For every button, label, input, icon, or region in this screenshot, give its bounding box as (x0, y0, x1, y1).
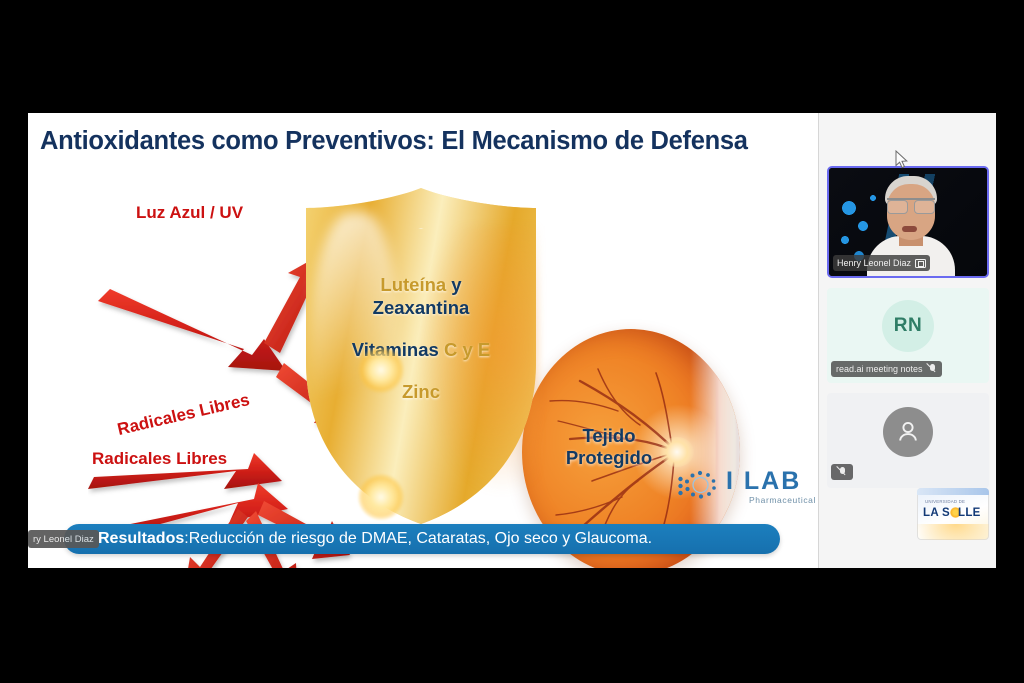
mic-muted-icon (928, 364, 937, 375)
ilab-tagline: Pharmaceutical (749, 495, 816, 505)
eye-label: Tejido Protegido (522, 425, 696, 469)
shared-slide: Antioxidantes como Preventivos: El Mecan… (28, 113, 818, 568)
person-mouth (902, 226, 917, 232)
shield-luteina: Luteína (380, 274, 446, 295)
shield-spacer-2 (296, 362, 546, 381)
impact-spark-upper (358, 347, 404, 393)
shield-y: y (446, 274, 461, 295)
participant-name-label: Henry Leonel Diaz (837, 258, 911, 268)
readai-name-label: read.ai meeting notes (836, 364, 923, 374)
lasalle-glow (917, 524, 989, 540)
ilab-logo: I LAB Pharmaceutical (678, 465, 818, 517)
avatar-person-placeholder (883, 407, 933, 457)
label-free-radicals-2: Radicales Libres (92, 449, 227, 469)
participant-tile-video[interactable]: Henry Leonel Diaz (827, 166, 989, 278)
glasses-icon (887, 198, 935, 211)
shield-c-y-e: C y E (444, 339, 490, 360)
anonymous-mic-chip (831, 464, 853, 480)
mouse-cursor (895, 150, 909, 169)
page-title: Antioxidantes como Preventivos: El Mecan… (40, 127, 810, 156)
presenter-name-overlay: ry Leonel Diaz (28, 530, 99, 548)
shield-line-1: Luteína y (296, 274, 546, 297)
shield-zeaxantina: Zeaxantina (296, 297, 546, 320)
participant-tile-readai[interactable]: RN read.ai meeting notes (827, 288, 989, 383)
shield-line-3: Vitaminas C y E (296, 339, 546, 362)
participant-name-chip: Henry Leonel Diaz (833, 255, 930, 271)
results-text: Reducción de riesgo de DMAE, Cataratas, … (189, 530, 652, 548)
lasalle-wordmark-right: LLE (958, 507, 981, 519)
screen-root: Antioxidantes como Preventivos: El Mecan… (0, 0, 1024, 683)
shield-zinc: Zinc (296, 381, 546, 404)
eye-label-line2: Protegido (522, 447, 696, 469)
lasalle-subtitle: UNIVERSIDAD DE (925, 499, 965, 504)
results-label: Resultados (98, 530, 184, 548)
shield-text-block: Luteína y Zeaxantina Vitaminas C y E Zin… (296, 274, 546, 404)
participant-tile-anonymous[interactable] (827, 393, 989, 488)
results-banner: Resultados: Reducción de riesgo de DMAE,… (64, 524, 780, 554)
ilab-dots-icon (678, 467, 722, 507)
participant-tile-lasalle[interactable]: UNIVERSIDAD DE LA S LLE (917, 488, 989, 540)
readai-name-chip: read.ai meeting notes (831, 361, 942, 377)
shield-spacer-1 (296, 320, 546, 339)
screen-share-icon (915, 259, 926, 268)
avatar-initials: RN (882, 300, 934, 352)
person-icon (895, 419, 921, 445)
mic-muted-icon (838, 467, 847, 478)
eye-label-line1: Tejido (522, 425, 696, 447)
participant-rail[interactable]: Henry Leonel Diaz RN read.ai meeting not… (818, 113, 996, 568)
antioxidant-shield: Luteína y Zeaxantina Vitaminas C y E Zin… (296, 186, 546, 526)
ilab-wordmark: I LAB (726, 467, 801, 496)
lasalle-top-bar (917, 488, 989, 495)
label-blue-light: Luz Azul / UV (136, 203, 243, 223)
impact-spark-lower (358, 474, 404, 520)
meeting-stage: Antioxidantes como Preventivos: El Mecan… (28, 113, 996, 568)
lasalle-wordmark-left: LA S (923, 507, 950, 519)
